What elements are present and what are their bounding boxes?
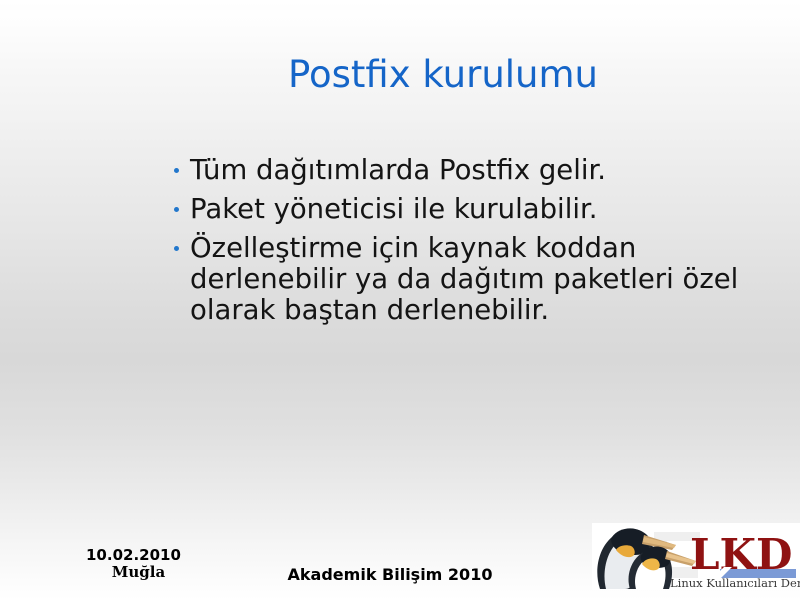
- logo-tagline: Linux Kullanıcıları Derneği: [670, 576, 800, 590]
- bullet-dot-icon: [168, 233, 190, 251]
- slide-canvas: Postfix kurulumu Tüm dağıtımlarda Postfi…: [0, 0, 800, 600]
- list-item-label: Özelleştirme için kaynak koddan derleneb…: [190, 233, 748, 326]
- list-item: Özelleştirme için kaynak koddan derleneb…: [168, 233, 748, 326]
- list-item: Paket yöneticisi ile kurulabilir.: [168, 194, 748, 225]
- lkd-logo: LKD Linux Kullanıcıları Derneği: [592, 523, 800, 590]
- bullet-list: Tüm dağıtımlarda Postfix gelir. Paket yö…: [168, 155, 748, 334]
- page-title: Postfix kurulumu: [60, 52, 800, 98]
- list-item: Tüm dağıtımlarda Postfix gelir.: [168, 155, 748, 186]
- footer-date: 10.02.2010: [86, 546, 181, 564]
- list-item-label: Tüm dağıtımlarda Postfix gelir.: [190, 155, 748, 186]
- list-item-label: Paket yöneticisi ile kurulabilir.: [190, 194, 748, 225]
- bullet-dot-icon: [168, 194, 190, 212]
- bullet-dot-icon: [168, 155, 190, 173]
